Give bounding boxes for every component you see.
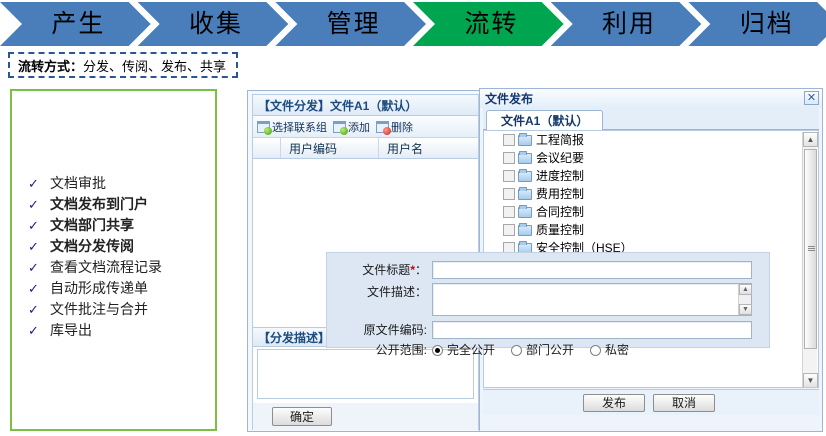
feature-item: ✓库导出 [28,320,213,341]
file-title-input[interactable] [432,261,752,279]
feature-item: ✓文件批注与合并 [28,299,213,320]
process-stage-label: 利用 [596,12,656,37]
feature-label: 文档发布到门户 [50,194,148,214]
flow-method-label: 流转方式： [18,56,83,75]
feature-item: ✓文档发布到门户 [28,194,213,215]
process-stage-label: 管理 [321,12,381,37]
description-scroll-up-icon[interactable]: ▲ [739,284,752,295]
process-stage-2[interactable]: 收集 [138,2,289,46]
toolbar-button-label: 添加 [348,119,370,135]
original-file-code-input[interactable] [432,321,752,339]
description-scroll-down-icon[interactable]: ▼ [739,304,752,315]
file-publish-footer: 发布 取消 [483,389,819,415]
tree-node-label: 合同控制 [536,206,584,219]
tree-indent-spacer [488,224,501,237]
publish-form-dialog: 文件标题*： 文件描述： ▲ ▼ 原文件编码: 公开范围: 完全公开部门公开私密 [326,252,770,348]
scope-option-label: 部门公开 [526,341,574,359]
tree-scrollbar-thumb[interactable] [804,149,817,349]
screenshot-root: 产生收集管理流转利用归档 流转方式： 分发、传阅、发布、共享 ✓文档审批✓文档发… [0,0,826,436]
tree-checkbox[interactable] [503,152,515,164]
scope-option-label: 完全公开 [447,341,495,359]
folder-icon [518,207,532,218]
tree-checkbox[interactable] [503,206,515,218]
scope-option-label: 私密 [605,341,629,359]
flow-method-value: 分发、传阅、发布、共享 [83,56,226,75]
file-publish-title: 文件发布 [480,89,822,108]
tree-checkbox[interactable] [503,134,515,146]
process-banner: 产生收集管理流转利用归档 [0,2,826,46]
feature-label: 库导出 [50,320,92,340]
delete-icon [376,121,389,133]
scope-option[interactable]: 部门公开 [511,341,574,359]
feature-label: 文件批注与合并 [50,299,148,319]
column-header-user-code: 用户编码 [281,138,379,158]
file-distribution-footer: 确定 [253,403,478,430]
scroll-down-icon[interactable]: ▼ [803,373,818,388]
check-icon: ✓ [28,260,50,276]
folder-icon [518,153,532,164]
tree-indent-spacer [488,170,501,183]
tree-indent-spacer [488,206,501,219]
feature-item: ✓文档审批 [28,173,213,194]
file-distribution-toolbar: 选择联系组添加删除 [253,116,478,138]
check-icon: ✓ [28,323,50,339]
select-group-icon [257,121,270,133]
tree-indent-spacer [488,134,501,147]
tree-node[interactable]: 质量控制 [484,221,818,239]
cancel-button[interactable]: 取消 [653,394,715,412]
tree-node[interactable]: 进度控制 [484,167,818,185]
original-file-code-label: 原文件编码: [327,321,432,339]
publish-tabstrip: 文件A1（默认） [483,108,819,130]
tree-node[interactable]: 合同控制 [484,203,818,221]
radio-button[interactable] [511,345,522,356]
feature-label: 文档审批 [50,173,106,193]
flow-method-note: 流转方式： 分发、传阅、发布、共享 [8,52,238,78]
feature-list: ✓文档审批✓文档发布到门户✓文档部门共享✓文档分发传阅✓查看文档流程记录✓自动形… [28,173,213,341]
file-title-label: 文件标题*： [327,261,432,279]
feature-label: 查看文档流程记录 [50,257,162,277]
feature-item: ✓自动形成传递单 [28,278,213,299]
feature-item: ✓文档分发传阅 [28,236,213,257]
check-icon: ✓ [28,218,50,234]
file-description-input[interactable]: ▲ ▼ [432,283,752,316]
file-description-label: 文件描述： [327,283,432,301]
folder-icon [518,135,532,146]
tree-scrollbar[interactable]: ▲ ▼ [802,132,817,388]
tree-node-label: 会议纪要 [536,152,584,165]
check-icon: ✓ [28,281,50,297]
check-icon: ✓ [28,176,50,192]
tree-node-label: 质量控制 [536,224,584,237]
toolbar-select-group-button[interactable]: 选择联系组 [257,119,327,135]
description-scrollbar[interactable]: ▲ ▼ [738,284,751,315]
check-icon: ✓ [28,197,50,213]
radio-button[interactable] [590,345,601,356]
scope-option[interactable]: 私密 [590,341,629,359]
check-icon: ✓ [28,302,50,318]
close-icon[interactable]: ✕ [804,91,819,105]
feature-label: 自动形成传递单 [50,278,148,298]
form-row-description: 文件描述： ▲ ▼ [327,283,752,316]
radio-button[interactable] [432,345,443,356]
process-stage-4[interactable]: 流转 [413,2,564,46]
feature-label: 文档分发传阅 [50,236,134,256]
process-stage-6[interactable]: 归档 [688,2,826,46]
folder-icon [518,171,532,182]
tree-checkbox[interactable] [503,170,515,182]
user-grid-header: 用户编码 用户名 [253,138,478,159]
process-stage-label: 归档 [734,12,794,37]
confirm-button[interactable]: 确定 [272,407,332,426]
scope-radio-group: 完全公开部门公开私密 [432,341,629,359]
process-stage-3[interactable]: 管理 [275,2,426,46]
tree-node-label: 进度控制 [536,170,584,183]
column-header-user-name: 用户名 [379,138,478,158]
tree-node[interactable]: 工程简报 [484,131,818,149]
feature-item: ✓查看文档流程记录 [28,257,213,278]
form-row-title: 文件标题*： [327,261,752,279]
feature-list-box: ✓文档审批✓文档发布到门户✓文档部门共享✓文档分发传阅✓查看文档流程记录✓自动形… [10,89,217,431]
tree-indent-spacer [488,188,501,201]
process-stage-label: 产生 [45,12,105,37]
toolbar-button-label: 删除 [391,119,413,135]
check-icon: ✓ [28,239,50,255]
toolbar-add-button[interactable]: 添加 [333,119,370,135]
folder-icon [518,225,532,236]
toolbar-delete-button[interactable]: 删除 [376,119,413,135]
tree-node[interactable]: 费用控制 [484,185,818,203]
scroll-up-icon[interactable]: ▲ [803,132,818,147]
process-stage-label: 流转 [458,12,518,37]
tree-node[interactable]: 会议纪要 [484,149,818,167]
scope-label: 公开范围: [327,341,432,359]
form-row-scope: 公开范围: 完全公开部门公开私密 [327,341,629,359]
folder-icon [518,189,532,200]
grid-select-column-header [253,138,281,158]
process-stage-label: 收集 [183,12,243,37]
process-stage-1[interactable]: 产生 [0,2,151,46]
publish-button[interactable]: 发布 [583,394,645,412]
tree-node-label: 费用控制 [536,188,584,201]
toolbar-button-label: 选择联系组 [272,119,327,135]
tree-node-label: 工程简报 [536,134,584,147]
file-distribution-title: 【文件分发】文件A1（默认） [253,95,478,116]
add-icon [333,121,346,133]
scope-option[interactable]: 完全公开 [432,341,495,359]
feature-label: 文档部门共享 [50,215,134,235]
tree-checkbox[interactable] [503,224,515,236]
process-stage-5[interactable]: 利用 [551,2,702,46]
tree-indent-spacer [488,152,501,165]
tree-checkbox[interactable] [503,188,515,200]
feature-item: ✓文档部门共享 [28,215,213,236]
tab-file-a1[interactable]: 文件A1（默认） [486,110,603,130]
form-row-original-code: 原文件编码: [327,321,752,339]
